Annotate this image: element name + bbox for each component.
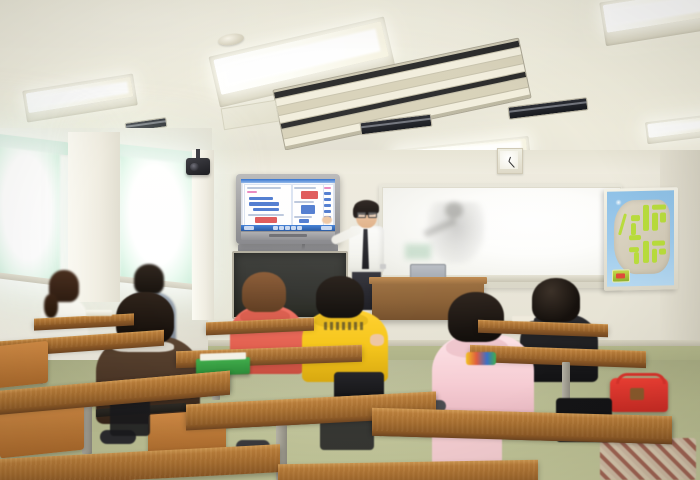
browser-chrome-bar <box>241 179 335 183</box>
student-pink-hoodie-hair <box>448 292 504 342</box>
display-speaker-bar <box>241 232 335 240</box>
window-far <box>0 146 60 282</box>
classroom-photo <box>0 0 700 480</box>
poster-butterfly-icon <box>615 199 622 205</box>
display-brand-logo <box>269 234 307 237</box>
display-screen[interactable] <box>241 179 335 231</box>
desk-row0-center <box>278 460 538 480</box>
wristwatch-icon <box>380 264 386 269</box>
taskbar[interactable] <box>241 225 335 231</box>
interactive-display[interactable] <box>236 174 340 244</box>
chair-left-back <box>0 341 48 389</box>
clock-face <box>500 151 518 169</box>
poster-frame <box>604 187 678 291</box>
notebook-far <box>86 310 112 316</box>
student-yellow-hoodie-hand <box>370 334 384 346</box>
projector-lens-icon <box>190 163 199 171</box>
poster-island-shape <box>614 199 670 274</box>
student-black-top-hair <box>532 278 580 322</box>
wall-upper-band <box>208 150 700 174</box>
projector-icon <box>186 158 210 175</box>
student-yellow-hoodie <box>302 276 388 380</box>
pencil-case <box>466 352 496 365</box>
display-webpage <box>243 184 333 225</box>
campus-map-poster <box>607 190 674 286</box>
clock-minute-hand <box>509 161 515 167</box>
student-white-shirt-ponytail <box>44 294 58 318</box>
desk-row2-right-leg <box>562 362 570 400</box>
patterned-bag <box>600 438 696 480</box>
ceiling-light-1-panel <box>603 0 700 33</box>
wall-clock <box>497 148 523 174</box>
poster-badge-icon <box>612 269 630 282</box>
student-grey-jacket-hair <box>134 264 164 294</box>
student-coral-hoodie-hair <box>242 272 286 312</box>
glasses-icon <box>357 212 376 216</box>
student-yellow-hoodie-print <box>324 322 366 330</box>
instructor-pointing-hand <box>322 216 332 224</box>
notebook-far-right <box>512 316 534 321</box>
presenter-shadow <box>427 202 485 264</box>
student-yellow-hoodie-hair <box>316 276 364 318</box>
whiteboard-mark <box>405 244 431 259</box>
red-bag <box>610 378 668 412</box>
